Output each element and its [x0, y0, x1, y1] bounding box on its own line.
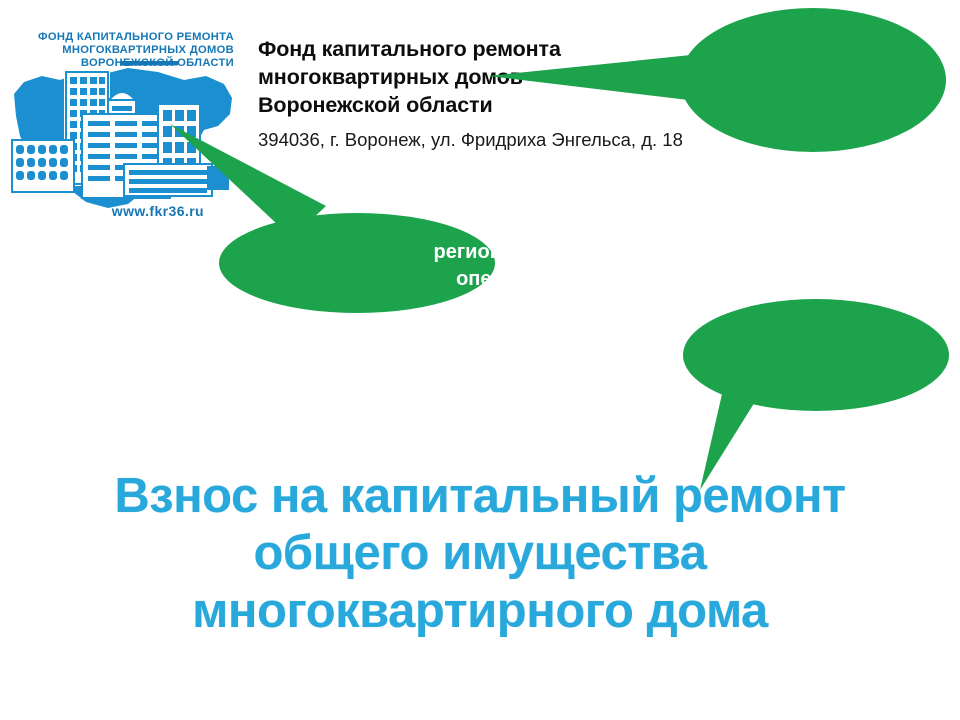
logo-line-1: ФОНД КАПИТАЛЬНОГО РЕМОНТА: [38, 31, 234, 43]
callout-operator-bubble-icon: [680, 8, 946, 152]
callout-logo-shape: [150, 110, 510, 320]
callout-logo-bubble-icon: [219, 213, 495, 313]
logo-wordmark: ФОНД КАПИТАЛЬНОГО РЕМОНТА МНОГОКВАРТИРНЫ…: [38, 31, 234, 69]
page-title: Взнос на капитальный ремонт общего имуще…: [0, 468, 960, 640]
callout-operator-name-address: Наименование и адрес регионального опера…: [660, 0, 960, 165]
slide-canvas: ФОНД КАПИТАЛЬНОГО РЕМОНТА МНОГОКВАРТИРНЫ…: [0, 0, 960, 720]
logo-rule: [120, 61, 178, 66]
building-lowrise-left-icon: [12, 140, 74, 192]
callout-operator-shape: [660, 0, 960, 165]
logo-line-2: МНОГОКВАРТИРНЫХ ДОМОВ: [62, 44, 234, 56]
callout-logo: Логотип регионального оператора: [150, 110, 510, 320]
callout-payment-bubble-icon: [683, 299, 949, 411]
